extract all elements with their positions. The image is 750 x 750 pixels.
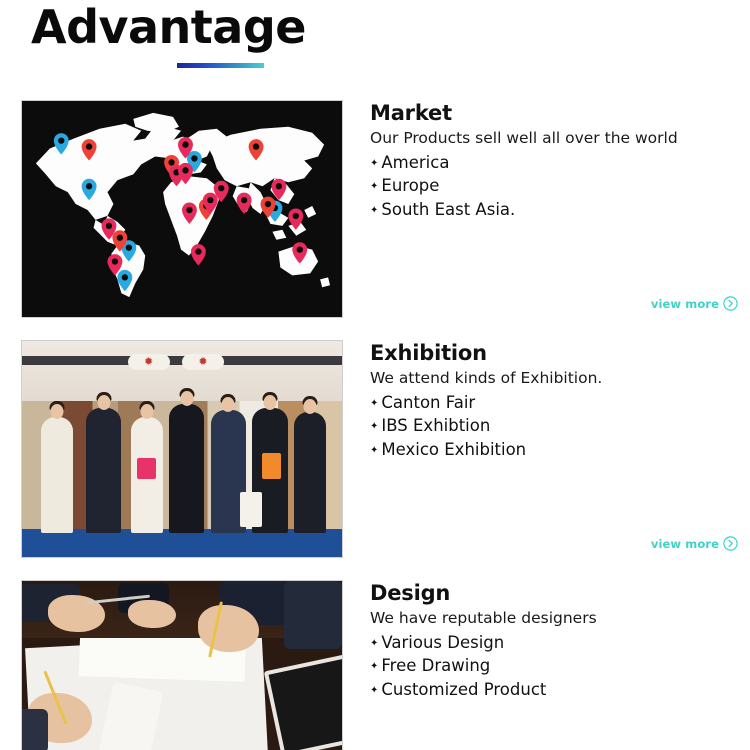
tote-bag xyxy=(240,492,262,527)
designers-desk-photo xyxy=(22,581,342,750)
design-copy: Design We have reputable designers ✦Vari… xyxy=(370,580,738,702)
market-bullet-list: ✦America ✦Europe ✦South East Asia. xyxy=(370,151,738,222)
exhibition-copy: Exhibition We attend kinds of Exhibition… xyxy=(370,340,738,462)
exhibition-thumbnail: ✹ ✹ xyxy=(21,340,343,558)
bullet-label: Various Design xyxy=(381,631,504,655)
design-bullet-list: ✦Various Design ✦Free Drawing ✦Customize… xyxy=(370,631,738,702)
booth-logo-right: ✹ xyxy=(182,354,224,370)
market-copy: Market Our Products sell well all over t… xyxy=(370,100,738,222)
bullet-label: Canton Fair xyxy=(381,391,475,415)
title-underline-accent xyxy=(177,63,264,68)
list-item: ✦Europe xyxy=(370,174,738,198)
view-more-label: view more xyxy=(651,297,719,311)
orange-folder xyxy=(262,453,281,479)
world-map-graphic xyxy=(22,101,342,317)
view-more-link-exhibition[interactable]: view more xyxy=(651,536,738,551)
bullet-diamond-icon: ✦ xyxy=(370,180,378,194)
person xyxy=(41,417,73,534)
list-item: ✦America xyxy=(370,151,738,175)
advantage-page: Advantage xyxy=(0,0,750,750)
chevron-right-circle-icon xyxy=(723,536,738,551)
list-item: ✦Free Drawing xyxy=(370,654,738,678)
bullet-label: Mexico Exhibition xyxy=(381,438,526,462)
list-item: ✦South East Asia. xyxy=(370,198,738,222)
bullet-diamond-icon: ✦ xyxy=(370,444,378,458)
section-subtitle-exhibition: We attend kinds of Exhibition. xyxy=(370,367,738,389)
bullet-diamond-icon: ✦ xyxy=(370,204,378,218)
section-title-design: Design xyxy=(370,580,738,606)
section-subtitle-design: We have reputable designers xyxy=(370,607,738,629)
section-title-market: Market xyxy=(370,100,738,126)
bullet-label: IBS Exhibtion xyxy=(381,414,490,438)
bullet-diamond-icon: ✦ xyxy=(370,157,378,171)
view-more-label: view more xyxy=(651,537,719,551)
list-item: ✦Canton Fair xyxy=(370,391,738,415)
bullet-label: South East Asia. xyxy=(381,198,515,222)
person xyxy=(294,412,326,533)
section-title-exhibition: Exhibition xyxy=(370,340,738,366)
bullet-diamond-icon: ✦ xyxy=(370,637,378,651)
bullet-label: Free Drawing xyxy=(381,654,490,678)
bullet-label: America xyxy=(381,151,449,175)
market-thumbnail xyxy=(21,100,343,318)
list-item: ✦Various Design xyxy=(370,631,738,655)
list-item: ✦IBS Exhibtion xyxy=(370,414,738,438)
bullet-label: Europe xyxy=(381,174,439,198)
section-subtitle-market: Our Products sell well all over the worl… xyxy=(370,127,738,149)
bullet-label: Customized Product xyxy=(381,678,546,702)
page-title: Advantage xyxy=(31,2,306,54)
chevron-right-circle-icon xyxy=(723,296,738,311)
exhibition-bullet-list: ✦Canton Fair ✦IBS Exhibtion ✦Mexico Exhi… xyxy=(370,391,738,462)
person xyxy=(86,408,121,533)
list-item: ✦Customized Product xyxy=(370,678,738,702)
pink-folder xyxy=(137,458,156,480)
bullet-diamond-icon: ✦ xyxy=(370,684,378,698)
bullet-diamond-icon: ✦ xyxy=(370,420,378,434)
trade-show-booth-photo: ✹ ✹ xyxy=(22,341,342,557)
person xyxy=(169,404,204,534)
bullet-diamond-icon: ✦ xyxy=(370,397,378,411)
booth-logo-left: ✹ xyxy=(128,354,170,370)
design-thumbnail xyxy=(21,580,343,750)
view-more-link-market[interactable]: view more xyxy=(651,296,738,311)
list-item: ✦Mexico Exhibition xyxy=(370,438,738,462)
bullet-diamond-icon: ✦ xyxy=(370,660,378,674)
